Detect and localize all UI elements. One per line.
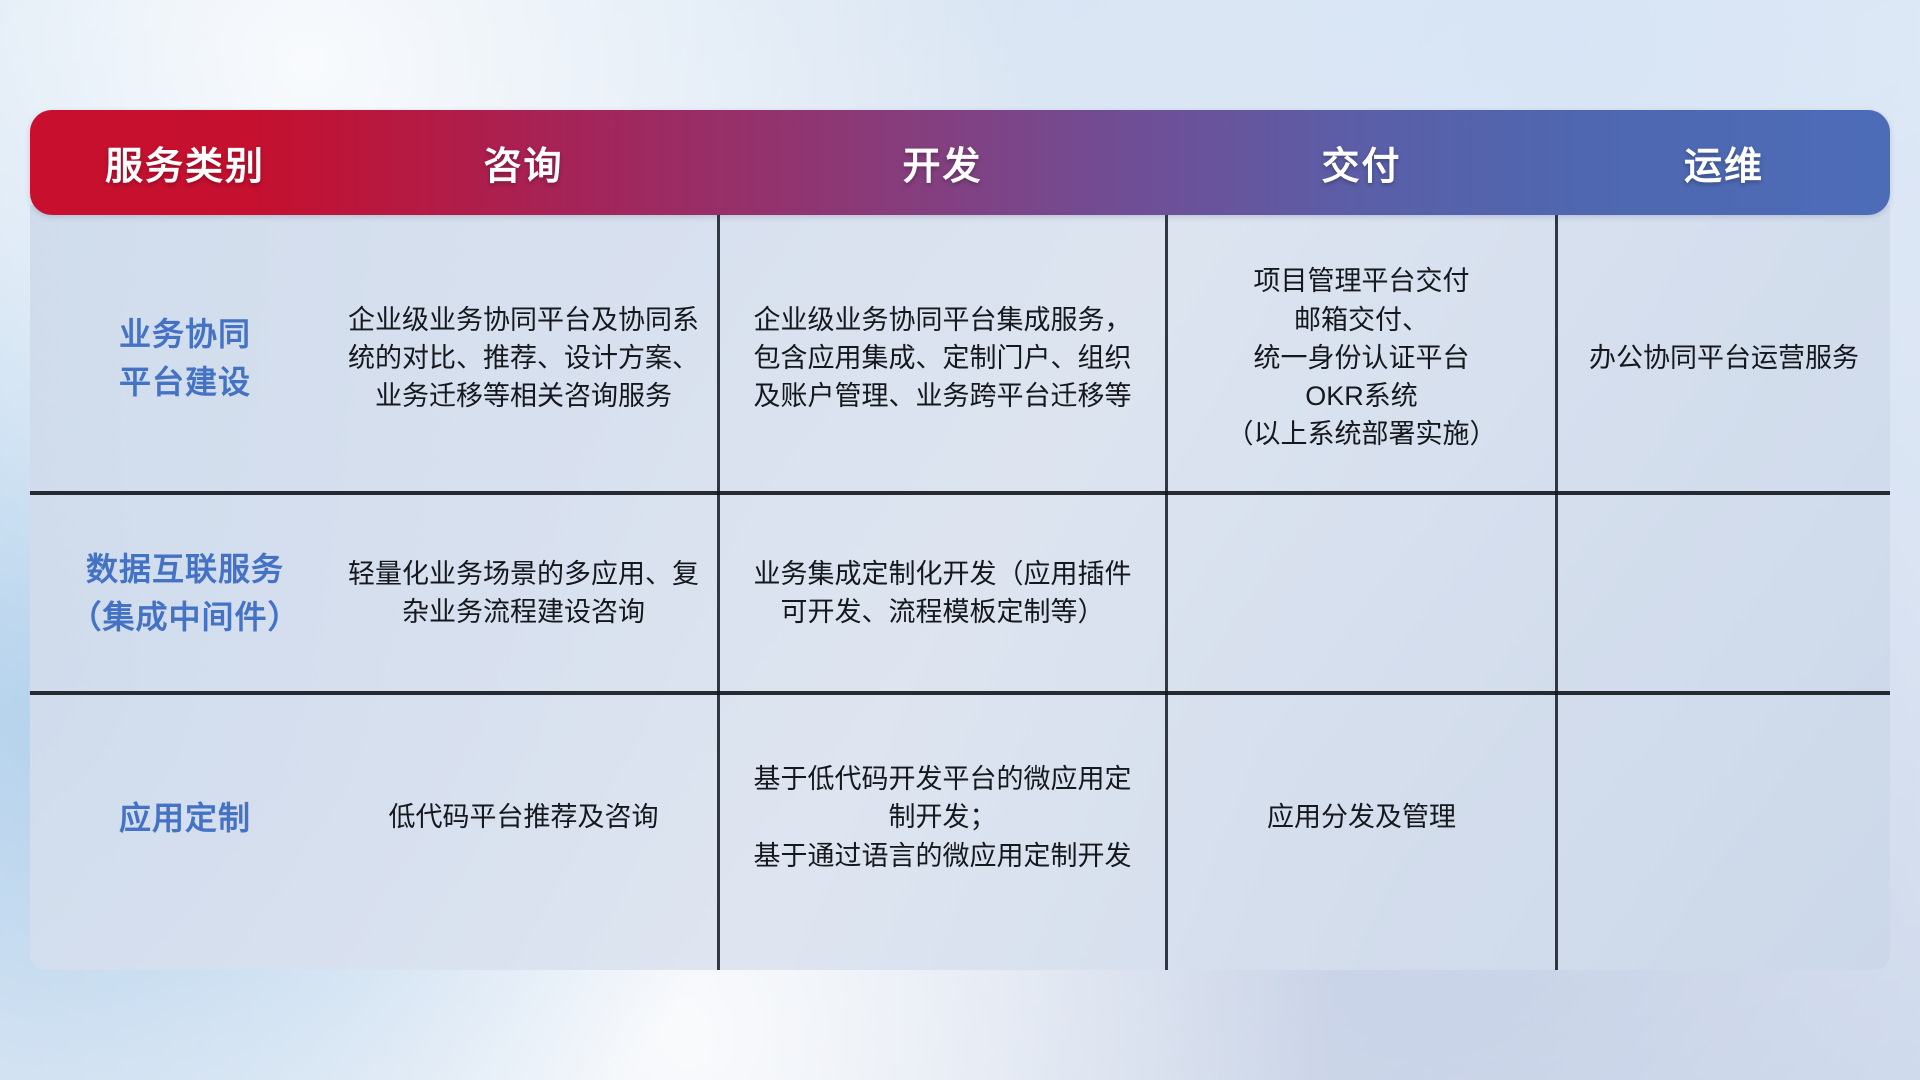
cell-development: 业务集成定制化开发（应用插件 可开发、流程模板定制等）	[720, 495, 1165, 691]
row-category-label: 业务协同 平台建设	[40, 225, 330, 491]
table-header-bar: 服务类别 咨询 开发 交付 运维	[30, 110, 1890, 215]
column-header-development: 开发	[720, 110, 1165, 215]
column-header-category: 服务类别	[40, 110, 330, 215]
slide-canvas: 业务协同 平台建设 企业级业务协同平台及协同系 统的对比、推荐、设计方案、 业务…	[0, 0, 1920, 1080]
cell-operations	[1558, 495, 1890, 691]
row-divider-2	[30, 691, 1890, 695]
cell-delivery: 项目管理平台交付 邮箱交付、 统一身份认证平台 OKR系统 （以上系统部署实施）	[1168, 225, 1555, 491]
table-row: 数据互联服务 （集成中间件） 轻量化业务场景的多应用、复 杂业务流程建设咨询 业…	[30, 495, 1890, 691]
service-matrix-table: 业务协同 平台建设 企业级业务协同平台及协同系 统的对比、推荐、设计方案、 业务…	[30, 110, 1890, 970]
row-divider-1	[30, 491, 1890, 495]
cell-development: 企业级业务协同平台集成服务， 包含应用集成、定制门户、组织 及账户管理、业务跨平…	[720, 225, 1165, 491]
column-divider-3	[1555, 205, 1558, 970]
table-row: 业务协同 平台建设 企业级业务协同平台及协同系 统的对比、推荐、设计方案、 业务…	[30, 225, 1890, 491]
cell-consulting: 轻量化业务场景的多应用、复 杂业务流程建设咨询	[330, 495, 717, 691]
cell-operations: 办公协同平台运营服务	[1558, 225, 1890, 491]
table-row: 应用定制 低代码平台推荐及咨询 基于低代码开发平台的微应用定 制开发； 基于通过…	[30, 695, 1890, 940]
cell-consulting: 企业级业务协同平台及协同系 统的对比、推荐、设计方案、 业务迁移等相关咨询服务	[330, 225, 717, 491]
cell-consulting: 低代码平台推荐及咨询	[330, 695, 717, 940]
cell-development: 基于低代码开发平台的微应用定 制开发； 基于通过语言的微应用定制开发	[720, 695, 1165, 940]
column-divider-2	[1165, 205, 1168, 970]
column-header-consulting: 咨询	[330, 110, 717, 215]
column-header-delivery: 交付	[1168, 110, 1555, 215]
cell-delivery	[1168, 495, 1555, 691]
cell-delivery: 应用分发及管理	[1168, 695, 1555, 940]
column-divider-1	[717, 205, 720, 970]
row-category-label: 应用定制	[40, 695, 330, 940]
column-header-operations: 运维	[1558, 110, 1890, 215]
row-category-label: 数据互联服务 （集成中间件）	[40, 495, 330, 691]
table-body: 业务协同 平台建设 企业级业务协同平台及协同系 统的对比、推荐、设计方案、 业务…	[30, 205, 1890, 970]
cell-operations	[1558, 695, 1890, 940]
